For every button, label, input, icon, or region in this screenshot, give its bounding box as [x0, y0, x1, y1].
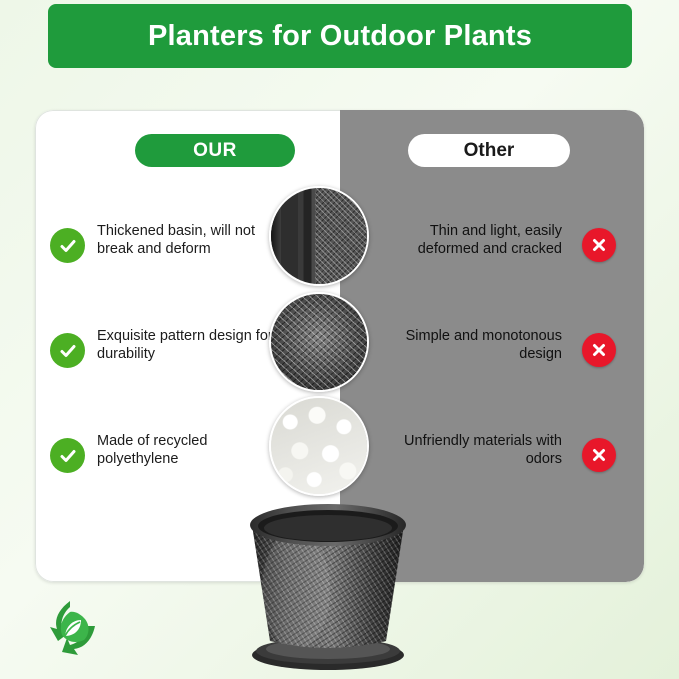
our-feature-text: Made of recycled polyethylene	[97, 432, 282, 468]
cross-circle-icon	[582, 228, 616, 262]
our-feature-text: Exquisite pattern design for durability	[97, 327, 282, 363]
other-badge-label: Other	[464, 140, 515, 162]
check-circle-icon	[50, 333, 85, 368]
recycle-leaf-icon: recycle-leaf-icon	[40, 596, 100, 656]
our-feature-text: Thickened basin, will not break and defo…	[97, 222, 282, 258]
our-badge: OUR	[135, 134, 295, 167]
product-photo: dark-grey-woven-planter-with-saucer	[236, 495, 420, 673]
other-feature-text: Unfriendly materials with odors	[384, 432, 562, 468]
cross-circle-icon	[582, 333, 616, 367]
our-badge-label: OUR	[193, 140, 237, 162]
infographic-page: Planters for Outdoor Plants OUR Other Th…	[0, 0, 679, 679]
check-circle-icon	[50, 228, 85, 263]
recycle-badge-label: recycle-leaf-icon	[100, 596, 101, 597]
other-feature-text: Simple and monotonous design	[384, 327, 562, 363]
cross-circle-icon	[582, 438, 616, 472]
check-circle-icon	[50, 438, 85, 473]
other-badge: Other	[408, 134, 570, 167]
detail-photo-pot-wall: pot-wall-thickness-closeup	[269, 186, 369, 286]
title-banner: Planters for Outdoor Plants	[48, 4, 632, 68]
detail-photo-pellets: recycled-plastic-pellets-closeup	[269, 396, 369, 496]
detail-photo-pattern: woven-pattern-texture-closeup	[269, 292, 369, 392]
other-feature-text: Thin and light, easily deformed and crac…	[384, 222, 562, 258]
page-title: Planters for Outdoor Plants	[148, 20, 532, 53]
